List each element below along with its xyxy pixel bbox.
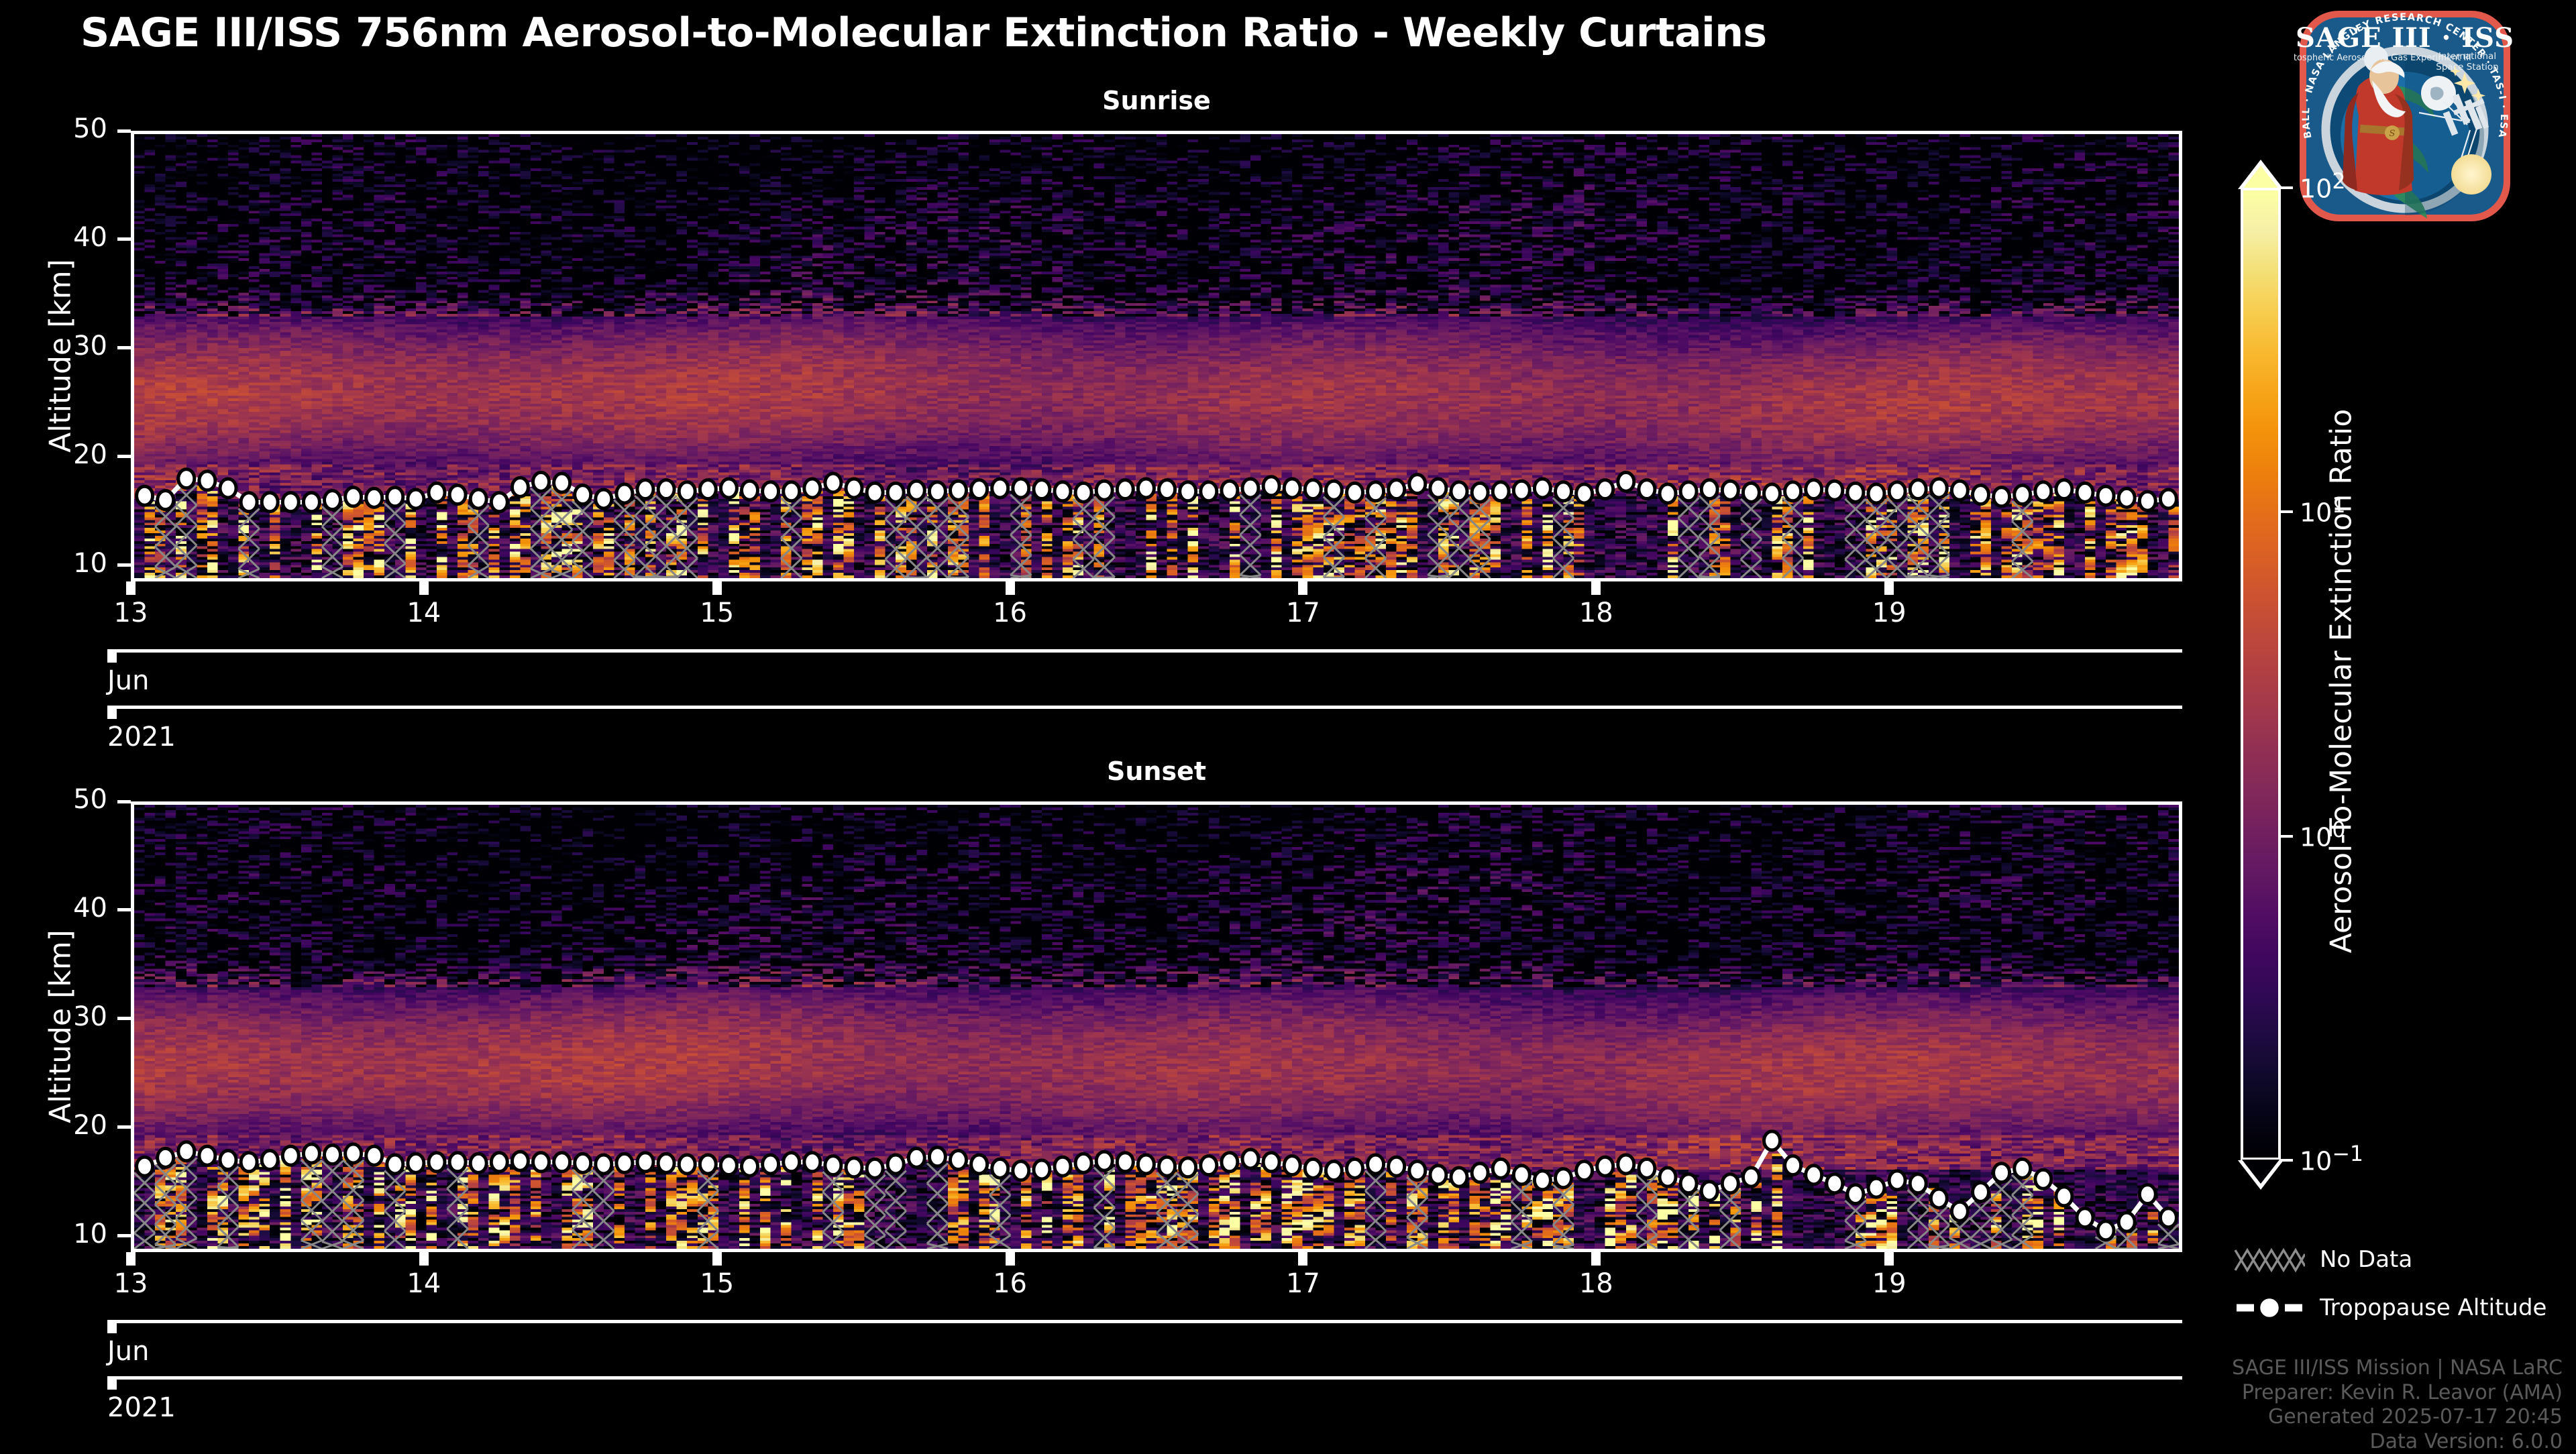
sunrise-x-tick-label: 15 xyxy=(677,598,757,628)
sunset-y-tick-label: 40 xyxy=(34,893,107,924)
tropopause-marker xyxy=(1075,1154,1091,1172)
tropopause-marker xyxy=(804,479,820,498)
tropopause-marker xyxy=(784,482,800,501)
sunrise-x-tick-mark xyxy=(1884,581,1894,595)
tropopause-marker xyxy=(366,488,382,507)
sunrise-x-tick-label: 13 xyxy=(91,598,171,628)
tropopause-marker xyxy=(1389,480,1405,499)
tropopause-marker xyxy=(1618,472,1634,491)
tropopause-marker xyxy=(1222,1153,1238,1172)
tropopause-marker xyxy=(1222,481,1238,500)
tropopause-marker xyxy=(1764,1131,1780,1150)
tropopause-marker xyxy=(158,1148,174,1167)
tropopause-marker xyxy=(1743,1168,1759,1186)
tropopause-marker xyxy=(1326,481,1342,500)
tropopause-marker xyxy=(1284,1156,1300,1175)
tropopause-marker xyxy=(1326,1162,1342,1180)
tropopause-marker xyxy=(1075,483,1091,502)
sunrise-overlay xyxy=(134,134,2179,578)
tropopause-marker xyxy=(1889,1171,1905,1190)
tropopause-marker xyxy=(1534,1171,1550,1190)
tropopause-marker xyxy=(637,480,653,499)
tropopause-marker xyxy=(282,493,299,512)
tropopause-marker xyxy=(408,490,424,508)
sunset-x-tick-mark xyxy=(419,1252,429,1266)
tropopause-marker xyxy=(2015,486,2031,504)
tropopause-marker xyxy=(2098,486,2114,505)
tropopause-marker xyxy=(616,484,633,503)
tropopause-marker xyxy=(1034,480,1050,499)
sunrise-x-tick-mark xyxy=(712,581,722,595)
sunrise-plot-area xyxy=(131,131,2182,581)
tropopause-marker xyxy=(178,1142,195,1161)
tropopause-marker xyxy=(1931,479,1947,498)
tropopause-marker xyxy=(1910,480,1926,499)
sunrise-year-label: 2021 xyxy=(107,722,176,752)
tropopause-marker xyxy=(262,493,278,512)
tropopause-marker xyxy=(429,483,445,502)
tropopause-marker xyxy=(429,1153,445,1172)
tropopause-marker xyxy=(1701,1182,1717,1200)
panel-title-sunrise: Sunrise xyxy=(131,86,2182,115)
tropopause-marker xyxy=(533,1153,549,1172)
tropopause-marker xyxy=(1994,488,2010,506)
tropopause-marker xyxy=(1368,1155,1384,1174)
tropopause-marker xyxy=(867,1159,883,1178)
tropopause-marker xyxy=(470,1154,486,1172)
sunrise-y-tick-mark xyxy=(117,237,131,241)
tropopause-marker xyxy=(1263,1153,1279,1172)
tropopause-marker xyxy=(596,490,612,508)
tropopause-marker xyxy=(1513,1166,1529,1184)
tropopause-marker xyxy=(1013,479,1029,498)
tropopause-marker xyxy=(1451,482,1467,501)
tropopause-marker xyxy=(1576,1162,1593,1180)
tropopause-marker xyxy=(1472,1164,1488,1182)
tropopause-marker xyxy=(1368,482,1384,501)
dashed-circle-marker-icon xyxy=(2234,1294,2305,1321)
tropopause-marker xyxy=(2015,1159,2031,1178)
tropopause-marker xyxy=(575,486,591,504)
tropopause-marker xyxy=(241,493,257,512)
tropopause-marker xyxy=(1556,482,1572,501)
tropopause-marker xyxy=(1910,1174,1926,1193)
tropopause-marker xyxy=(929,482,945,501)
tropopause-marker xyxy=(596,1155,612,1174)
tropopause-line xyxy=(145,1141,2169,1231)
tropopause-marker xyxy=(1430,1166,1446,1184)
sunset-y-tick-label: 50 xyxy=(34,784,107,815)
sunset-y-tick-mark xyxy=(117,1017,131,1020)
tropopause-marker xyxy=(951,481,967,500)
tropopause-marker xyxy=(720,1156,737,1175)
sunrise-x-tick-mark xyxy=(419,581,429,595)
page-title: SAGE III/ISS 756nm Aerosol-to-Molecular … xyxy=(80,9,1767,56)
sunrise-x-tick-mark xyxy=(126,581,136,595)
tropopause-marker xyxy=(387,1155,403,1174)
tropopause-marker xyxy=(2118,1213,2135,1231)
tropopause-marker xyxy=(1889,482,1905,501)
tropopause-marker xyxy=(784,1153,800,1172)
tropopause-marker xyxy=(1034,1160,1050,1179)
tropopause-marker xyxy=(2056,480,2072,499)
tropopause-marker xyxy=(1347,1159,1363,1178)
tropopause-marker xyxy=(1263,477,1279,496)
tropopause-marker xyxy=(1701,480,1717,499)
sunrise-y-tick-mark xyxy=(117,455,131,458)
tropopause-marker xyxy=(679,1155,695,1174)
sunset-y-tick-mark xyxy=(117,908,131,911)
colorbar xyxy=(2241,188,2281,1160)
legend-label-tropopause: Tropopause Altitude xyxy=(2320,1294,2546,1321)
tropopause-marker xyxy=(1868,484,1884,503)
sunrise-x-tick-label: 18 xyxy=(1556,598,1636,628)
tropopause-marker xyxy=(220,1151,236,1170)
tropopause-marker xyxy=(220,479,236,498)
tropopause-marker xyxy=(1159,480,1175,499)
tropopause-marker xyxy=(1868,1178,1884,1197)
tropopause-marker xyxy=(491,1153,507,1172)
sunset-y-tick-label: 30 xyxy=(34,1001,107,1032)
tropopause-marker xyxy=(512,1152,528,1170)
sunset-x-tick-label: 15 xyxy=(677,1268,757,1299)
patch-subtitle-right-1: International xyxy=(2438,51,2496,62)
tropopause-marker xyxy=(763,482,779,501)
sunset-x-tick-label: 18 xyxy=(1556,1268,1636,1299)
tropopause-marker xyxy=(1576,484,1593,503)
tropopause-marker xyxy=(1513,481,1529,500)
tropopause-marker xyxy=(1973,1183,1989,1202)
sunset-x-tick-mark xyxy=(1006,1252,1015,1266)
tropopause-marker xyxy=(658,480,674,499)
svg-text:S: S xyxy=(2390,129,2396,139)
sunrise-y-tick-label: 10 xyxy=(34,548,107,579)
sunset-x-tick-mark xyxy=(126,1252,136,1266)
tropopause-marker xyxy=(1472,483,1488,502)
tropopause-marker xyxy=(1785,1156,1801,1175)
tropopause-marker xyxy=(1680,482,1697,501)
tropopause-marker xyxy=(303,1144,319,1163)
tropopause-marker xyxy=(449,486,466,504)
tropopause-marker xyxy=(1013,1162,1029,1180)
sunrise-month-tick xyxy=(107,649,117,663)
tropopause-marker xyxy=(742,481,758,500)
tropopause-marker xyxy=(1096,481,1112,500)
tropopause-marker xyxy=(1534,479,1550,498)
sunset-overlay xyxy=(134,805,2179,1249)
tropopause-marker xyxy=(262,1151,278,1170)
patch-subtitle-right-2: Space Station xyxy=(2436,62,2498,72)
tropopause-marker xyxy=(575,1154,591,1172)
tropopause-marker xyxy=(2077,483,2093,502)
tropopause-marker xyxy=(1847,1185,1864,1204)
tropopause-marker xyxy=(1994,1164,2010,1182)
tropopause-marker xyxy=(1305,1159,1321,1178)
sunset-x-tick-label: 17 xyxy=(1263,1268,1343,1299)
tropopause-marker xyxy=(2077,1209,2093,1227)
tropopause-marker xyxy=(1305,480,1321,499)
tropopause-marker xyxy=(888,1155,904,1174)
sunrise-y-tick-label: 40 xyxy=(34,222,107,253)
tropopause-marker xyxy=(971,1155,987,1174)
footer-line-mission: SAGE III/ISS Mission | NASA LaRC xyxy=(2232,1356,2563,1381)
tropopause-marker xyxy=(804,1153,820,1172)
tropopause-marker xyxy=(846,1158,862,1177)
sunset-y-tick-label: 20 xyxy=(34,1110,107,1141)
sunrise-x-tick-mark xyxy=(1006,581,1015,595)
tropopause-marker xyxy=(1138,479,1154,498)
tropopause-marker xyxy=(1451,1168,1467,1186)
hatch-x-swatch-icon xyxy=(2234,1246,2305,1273)
tropopause-marker xyxy=(1242,479,1258,498)
colorbar-extend-bottom-fill xyxy=(2242,1160,2279,1184)
tropopause-marker xyxy=(325,1145,341,1164)
colorbar-tick-mark xyxy=(2281,1159,2293,1162)
tropopause-marker xyxy=(345,488,362,506)
sunrise-x-tick-label: 14 xyxy=(384,598,464,628)
tropopause-marker xyxy=(2160,490,2176,508)
tropopause-marker xyxy=(1722,1174,1738,1193)
tropopause-marker xyxy=(199,1146,215,1165)
tropopause-marker xyxy=(2098,1221,2114,1240)
tropopause-marker xyxy=(2139,1185,2155,1204)
sunset-month-tick xyxy=(107,1320,117,1333)
sunrise-y-tick-mark xyxy=(117,346,131,349)
tropopause-marker xyxy=(846,479,862,498)
tropopause-marker xyxy=(1847,483,1864,502)
sunset-x-tick-label: 19 xyxy=(1849,1268,1929,1299)
footer-line-generated: Generated 2025-07-17 20:45 xyxy=(2232,1405,2563,1430)
tropopause-marker xyxy=(137,1157,153,1176)
tropopause-marker xyxy=(2160,1209,2176,1227)
tropopause-marker xyxy=(1055,1157,1071,1176)
sunset-year-label: 2021 xyxy=(107,1392,176,1423)
tropopause-marker xyxy=(554,1153,570,1172)
tropopause-marker xyxy=(1117,480,1133,499)
tropopause-marker xyxy=(1639,480,1655,499)
sunrise-y-tick-label: 30 xyxy=(34,331,107,361)
colorbar-axis-label: Aerosol-To-Molecular Extinction Ratio xyxy=(2324,195,2359,1168)
sunset-x-tick-mark xyxy=(1298,1252,1307,1266)
tropopause-marker xyxy=(637,1153,653,1172)
tropopause-marker xyxy=(2139,492,2155,510)
tropopause-marker xyxy=(742,1157,758,1176)
tropopause-marker xyxy=(199,471,215,490)
tropopause-marker xyxy=(2056,1187,2072,1206)
tropopause-marker xyxy=(1827,481,1843,500)
tropopause-marker xyxy=(1743,483,1759,502)
tropopause-marker xyxy=(1660,1168,1676,1186)
sunset-x-tick-label: 14 xyxy=(384,1268,464,1299)
tropopause-marker xyxy=(533,472,549,491)
colorbar-gradient xyxy=(2241,188,2281,1160)
tropopause-marker xyxy=(178,469,195,488)
tropopause-marker xyxy=(1493,1159,1509,1178)
sunrise-y-tick-mark xyxy=(117,129,131,133)
tropopause-marker xyxy=(1409,475,1426,494)
tropopause-marker xyxy=(1138,1155,1154,1174)
tropopause-marker xyxy=(888,483,904,502)
sunrise-x-tick-mark xyxy=(1591,581,1601,595)
tropopause-marker xyxy=(825,1156,841,1175)
tropopause-marker xyxy=(679,482,695,501)
tropopause-marker xyxy=(951,1151,967,1170)
tropopause-marker xyxy=(1389,1157,1405,1176)
sunrise-month-label: Jun xyxy=(107,665,150,696)
sunset-x-tick-label: 16 xyxy=(970,1268,1051,1299)
tropopause-marker xyxy=(1180,1158,1196,1177)
tropopause-marker xyxy=(1660,484,1676,503)
tropopause-marker xyxy=(720,479,737,498)
tropopause-marker xyxy=(303,493,319,512)
sunset-y-tick-mark xyxy=(117,1234,131,1237)
sunrise-y-tick-mark xyxy=(117,563,131,567)
sunset-year-tick xyxy=(107,1376,117,1390)
footer-line-version: Data Version: 6.0.0 xyxy=(2232,1430,2563,1454)
colorbar-tick-mark xyxy=(2281,510,2293,513)
sunset-y-tick-label: 10 xyxy=(34,1219,107,1249)
tropopause-marker xyxy=(2035,1170,2051,1188)
tropopause-marker xyxy=(1242,1150,1258,1168)
tropopause-marker xyxy=(992,1159,1008,1178)
tropopause-markers xyxy=(137,1131,2177,1240)
sunrise-year-tick xyxy=(107,706,117,719)
tropopause-marker xyxy=(1827,1174,1843,1193)
sunrise-y-tick-label: 50 xyxy=(34,113,107,144)
tropopause-marker xyxy=(554,473,570,492)
sunset-x-tick-mark xyxy=(712,1252,722,1266)
tropopause-marker xyxy=(1597,480,1613,499)
tropopause-marker xyxy=(1284,479,1300,498)
tropopause-marker xyxy=(1951,1202,1968,1221)
tropopause-marker xyxy=(1951,481,1968,500)
tropopause-marker xyxy=(1409,1162,1426,1180)
colorbar-extend-top-fill xyxy=(2242,166,2279,190)
tropopause-marker xyxy=(1973,486,1989,504)
sunset-x-tick-label: 13 xyxy=(91,1268,171,1299)
legend-item-no-data: No Data xyxy=(2234,1246,2412,1273)
sunrise-x-tick-mark xyxy=(1298,581,1307,595)
tropopause-marker xyxy=(867,483,883,502)
tropopause-marker xyxy=(1618,1155,1634,1174)
tropopause-marker xyxy=(1493,482,1509,501)
tropopause-marker xyxy=(1055,482,1071,501)
sunset-x-tick-mark xyxy=(1884,1252,1894,1266)
tropopause-marker xyxy=(241,1153,257,1172)
tropopause-marker xyxy=(1201,482,1217,501)
tropopause-marker xyxy=(470,490,486,508)
tropopause-marker xyxy=(2035,482,2051,501)
tropopause-marker xyxy=(158,491,174,510)
sunset-year-axis-line xyxy=(107,1376,2182,1380)
tropopause-marker xyxy=(1556,1169,1572,1188)
tropopause-marker xyxy=(1931,1189,1947,1208)
sunset-y-tick-mark xyxy=(117,800,131,803)
sunrise-year-axis-line xyxy=(107,706,2182,709)
tropopause-marker xyxy=(449,1153,466,1172)
tropopause-marker xyxy=(1096,1152,1112,1170)
sunrise-x-tick-label: 16 xyxy=(970,598,1051,628)
tropopause-marker xyxy=(1764,484,1780,503)
footer-line-preparer: Preparer: Kevin R. Leavor (AMA) xyxy=(2232,1381,2563,1406)
footer-credits: SAGE III/ISS Mission | NASA LaRC Prepare… xyxy=(2232,1356,2563,1454)
patch-title: SAGE III · ISS xyxy=(2296,22,2514,54)
legend-label-no-data: No Data xyxy=(2320,1246,2412,1273)
sunrise-month-axis-line xyxy=(107,649,2182,653)
tropopause-marker xyxy=(616,1154,633,1172)
tropopause-marker xyxy=(1680,1174,1697,1193)
sunrise-y-tick-label: 20 xyxy=(34,439,107,470)
sunset-y-tick-mark xyxy=(117,1125,131,1129)
tropopause-marker xyxy=(2118,488,2135,507)
tropopause-marker xyxy=(1159,1157,1175,1176)
legend-item-tropopause: Tropopause Altitude xyxy=(2234,1294,2546,1321)
tropopause-marker xyxy=(908,1148,924,1167)
tropopause-marker xyxy=(1597,1157,1613,1176)
tropopause-marker xyxy=(1117,1153,1133,1172)
panel-title-sunset: Sunset xyxy=(131,757,2182,786)
tropopause-marker xyxy=(825,473,841,492)
tropopause-marker xyxy=(137,486,153,505)
sunrise-x-tick-label: 17 xyxy=(1263,598,1343,628)
tropopause-marker xyxy=(992,479,1008,498)
tropopause-marker xyxy=(325,491,341,510)
tropopause-marker xyxy=(971,480,987,499)
tropopause-marker xyxy=(512,478,528,496)
tropopause-marker xyxy=(1785,482,1801,501)
sunset-x-tick-mark xyxy=(1591,1252,1601,1266)
tropopause-marker xyxy=(763,1155,779,1174)
tropopause-marker xyxy=(1347,483,1363,502)
tropopause-marker xyxy=(366,1146,382,1165)
tropopause-marker xyxy=(658,1154,674,1172)
tropopause-marker xyxy=(1639,1159,1655,1178)
sunset-month-axis-line xyxy=(107,1320,2182,1323)
tropopause-marker xyxy=(1806,480,1822,499)
tropopause-marker xyxy=(345,1144,362,1163)
tropopause-marker xyxy=(908,481,924,500)
tropopause-marker xyxy=(387,488,403,506)
tropopause-marker xyxy=(700,1155,716,1174)
tropopause-marker xyxy=(929,1148,945,1166)
tropopause-marker xyxy=(1722,481,1738,500)
sunset-month-label: Jun xyxy=(107,1336,150,1367)
colorbar-tick-mark xyxy=(2281,835,2293,838)
tropopause-marker xyxy=(1806,1166,1822,1184)
sunset-plot-area xyxy=(131,801,2182,1252)
colorbar-tick-mark xyxy=(2281,186,2293,189)
tropopause-marker xyxy=(491,493,507,512)
tropopause-marker xyxy=(700,480,716,499)
tropopause-marker xyxy=(408,1154,424,1172)
tropopause-marker xyxy=(1430,479,1446,498)
tropopause-marker xyxy=(1180,482,1196,501)
sunrise-x-tick-label: 19 xyxy=(1849,598,1929,628)
tropopause-marker xyxy=(282,1146,299,1165)
tropopause-marker xyxy=(1201,1156,1217,1175)
